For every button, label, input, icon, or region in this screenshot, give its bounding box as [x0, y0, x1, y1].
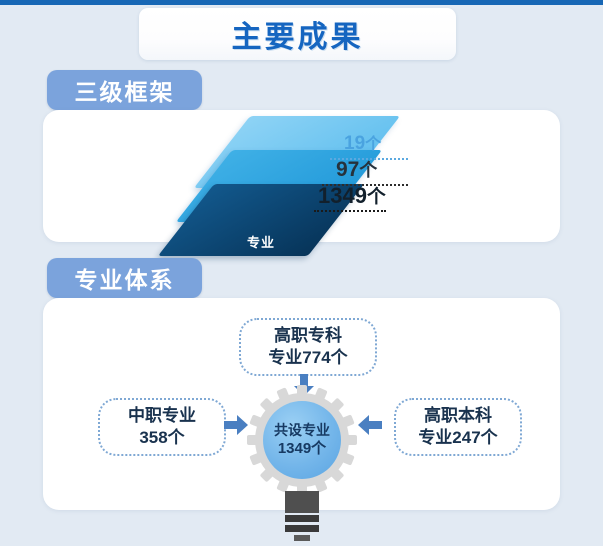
count-unit: 个	[365, 135, 381, 153]
arrow-left-icon-right-node	[358, 415, 382, 435]
stack-layer-label: 专业	[186, 184, 336, 256]
count-value: 1349	[318, 183, 367, 208]
lightbulb-gear-center: 共设专业 1349个	[247, 385, 357, 525]
section-badge-system: 专业体系	[47, 258, 202, 298]
node-line2: 专业247个	[418, 427, 497, 449]
page-title: 主要成果	[139, 8, 456, 60]
center-line1: 共设专业	[274, 421, 330, 439]
node-secondary-vocational: 中职专业 358个	[98, 398, 226, 456]
arrow-right-icon-left-node	[224, 415, 248, 435]
node-line1: 高职专科	[274, 325, 342, 347]
title-panel: 主要成果	[139, 8, 456, 60]
leader-line-major	[314, 210, 386, 212]
section-badge-framework: 三级框架	[47, 70, 202, 110]
center-total-label: 共设专业 1349个	[263, 401, 341, 479]
bulb-base-tip	[294, 535, 310, 541]
node-vocational-undergraduate: 高职本科 专业247个	[394, 398, 522, 456]
count-unit: 个	[367, 186, 386, 207]
count-unit: 个	[359, 160, 377, 180]
node-vocational-college: 高职专科 专业774个	[239, 318, 377, 376]
count-value: 19	[344, 133, 365, 154]
count-major-category: 19个	[344, 130, 381, 155]
count-category: 97个	[336, 156, 377, 182]
bulb-base-neck	[285, 491, 319, 513]
bulb-base-ring2	[285, 525, 319, 532]
count-major: 1349个	[318, 182, 386, 209]
bulb-base-ring1	[285, 515, 319, 522]
node-line1: 高职本科	[424, 405, 492, 427]
node-line2: 专业774个	[268, 347, 347, 369]
center-line2: 1349个	[278, 439, 326, 459]
node-line2: 358个	[139, 427, 184, 449]
count-value: 97	[336, 158, 359, 181]
top-accent-bar	[0, 0, 603, 5]
node-line1: 中职专业	[128, 405, 196, 427]
